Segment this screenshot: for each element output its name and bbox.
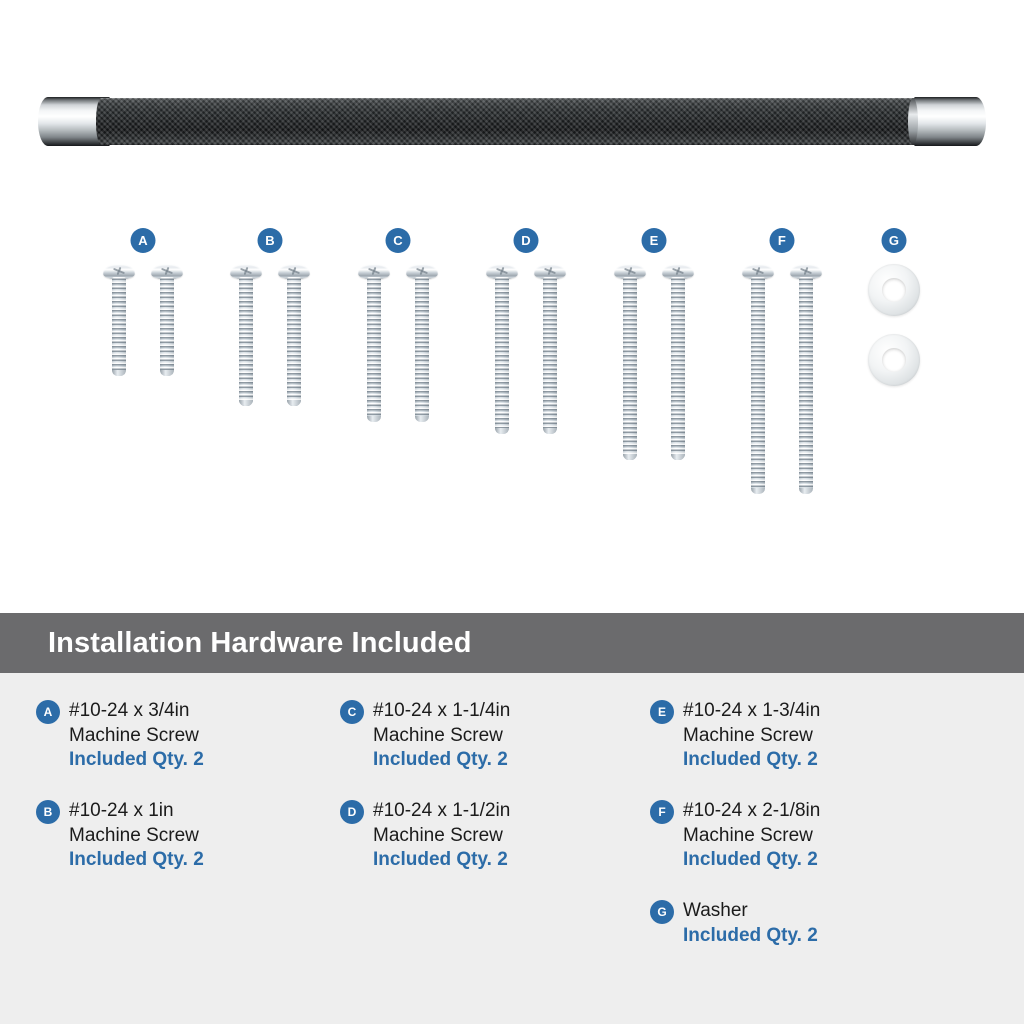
legend-item-f: F#10-24 x 2-1/8inMachine ScrewIncluded Q… xyxy=(650,799,1024,873)
legend-part-qty: Included Qty. 2 xyxy=(373,748,510,773)
legend-item-g: GWasherIncluded Qty. 2 xyxy=(650,899,1024,948)
legend-part-type: Machine Screw xyxy=(683,824,820,849)
legend-text-block: #10-24 x 1-1/4inMachine ScrewIncluded Qt… xyxy=(373,699,510,773)
legend-columns: A#10-24 x 3/4inMachine ScrewIncluded Qty… xyxy=(0,673,1024,975)
hardware-badge-c: C xyxy=(386,228,411,253)
legend-column-2: C#10-24 x 1-1/4inMachine ScrewIncluded Q… xyxy=(340,699,650,975)
machine-screw xyxy=(662,264,694,460)
flat-washer xyxy=(868,264,920,316)
screw-threaded-shank xyxy=(287,277,301,406)
legend-part-type: Machine Screw xyxy=(683,724,820,749)
legend-part-name: #10-24 x 3/4in xyxy=(69,699,204,724)
hardware-badge-d: D xyxy=(514,228,539,253)
legend-item-b: B#10-24 x 1inMachine ScrewIncluded Qty. … xyxy=(36,799,340,873)
legend-badge-f: F xyxy=(650,800,674,824)
machine-screw xyxy=(406,264,438,422)
legend-badge-g: G xyxy=(650,900,674,924)
legend-badge-a: A xyxy=(36,700,60,724)
machine-screw xyxy=(358,264,390,422)
flat-washer xyxy=(868,334,920,386)
legend-item-e: E#10-24 x 1-3/4inMachine ScrewIncluded Q… xyxy=(650,699,1024,773)
washer-hole xyxy=(882,278,906,302)
hardware-badge-e: E xyxy=(642,228,667,253)
machine-screw xyxy=(790,264,822,494)
machine-screw xyxy=(486,264,518,434)
machine-screw xyxy=(230,264,262,406)
legend-column-1: A#10-24 x 3/4inMachine ScrewIncluded Qty… xyxy=(0,699,340,975)
legend-part-type: Machine Screw xyxy=(373,824,510,849)
hardware-badge-g: G xyxy=(882,228,907,253)
machine-screw xyxy=(614,264,646,460)
legend-part-qty: Included Qty. 2 xyxy=(69,748,204,773)
screw-threaded-shank xyxy=(799,277,813,494)
screw-pair-a xyxy=(103,264,183,376)
legend-title: Installation Hardware Included xyxy=(0,627,472,660)
legend-text-block: WasherIncluded Qty. 2 xyxy=(683,899,818,948)
legend-badge-c: C xyxy=(340,700,364,724)
screw-threaded-shank xyxy=(112,277,126,376)
machine-screw xyxy=(103,264,135,376)
legend-part-qty: Included Qty. 2 xyxy=(69,848,204,873)
screw-pair-c xyxy=(358,264,438,422)
washer-stack xyxy=(868,264,920,386)
legend-text-block: #10-24 x 1inMachine ScrewIncluded Qty. 2 xyxy=(69,799,204,873)
screw-pair-b xyxy=(230,264,310,406)
screw-threaded-shank xyxy=(543,277,557,434)
machine-screw xyxy=(742,264,774,494)
legend-part-qty: Included Qty. 2 xyxy=(683,924,818,949)
legend-part-type: Machine Screw xyxy=(69,724,204,749)
legend-column-3: E#10-24 x 1-3/4inMachine ScrewIncluded Q… xyxy=(650,699,1024,975)
machine-screw xyxy=(278,264,310,406)
hardware-badge-f: F xyxy=(770,228,795,253)
washer-hole xyxy=(882,348,906,372)
screw-pair-f xyxy=(742,264,822,494)
screw-threaded-shank xyxy=(367,277,381,422)
screw-pair-e xyxy=(614,264,694,460)
machine-screw xyxy=(151,264,183,376)
screw-threaded-shank xyxy=(751,277,765,494)
screw-threaded-shank xyxy=(160,277,174,376)
legend-item-a: A#10-24 x 3/4inMachine ScrewIncluded Qty… xyxy=(36,699,340,773)
hardware-illustration-row: ABCDEFG xyxy=(0,0,1024,613)
legend-text-block: #10-24 x 1-3/4inMachine ScrewIncluded Qt… xyxy=(683,699,820,773)
screw-threaded-shank xyxy=(239,277,253,406)
product-illustration-area: ABCDEFG xyxy=(0,0,1024,613)
legend-part-name: Washer xyxy=(683,899,818,924)
legend-part-name: #10-24 x 1in xyxy=(69,799,204,824)
hardware-badge-a: A xyxy=(131,228,156,253)
legend-part-qty: Included Qty. 2 xyxy=(373,848,510,873)
screw-threaded-shank xyxy=(671,277,685,460)
legend-part-qty: Included Qty. 2 xyxy=(683,848,820,873)
legend-part-qty: Included Qty. 2 xyxy=(683,748,820,773)
legend-part-type: Machine Screw xyxy=(373,724,510,749)
machine-screw xyxy=(534,264,566,434)
legend-part-name: #10-24 x 2-1/8in xyxy=(683,799,820,824)
legend-part-name: #10-24 x 1-1/2in xyxy=(373,799,510,824)
legend-item-c: C#10-24 x 1-1/4inMachine ScrewIncluded Q… xyxy=(340,699,650,773)
legend-part-name: #10-24 x 1-3/4in xyxy=(683,699,820,724)
hardware-badge-b: B xyxy=(258,228,283,253)
installation-hardware-legend: Installation Hardware Included A#10-24 x… xyxy=(0,613,1024,1024)
screw-threaded-shank xyxy=(495,277,509,434)
legend-text-block: #10-24 x 1-1/2inMachine ScrewIncluded Qt… xyxy=(373,799,510,873)
legend-header-bar: Installation Hardware Included xyxy=(0,613,1024,673)
legend-badge-b: B xyxy=(36,800,60,824)
screw-threaded-shank xyxy=(623,277,637,460)
legend-text-block: #10-24 x 3/4inMachine ScrewIncluded Qty.… xyxy=(69,699,204,773)
legend-part-type: Machine Screw xyxy=(69,824,204,849)
legend-part-name: #10-24 x 1-1/4in xyxy=(373,699,510,724)
screw-pair-d xyxy=(486,264,566,434)
legend-badge-e: E xyxy=(650,700,674,724)
legend-text-block: #10-24 x 2-1/8inMachine ScrewIncluded Qt… xyxy=(683,799,820,873)
legend-badge-d: D xyxy=(340,800,364,824)
screw-threaded-shank xyxy=(415,277,429,422)
legend-item-d: D#10-24 x 1-1/2inMachine ScrewIncluded Q… xyxy=(340,799,650,873)
